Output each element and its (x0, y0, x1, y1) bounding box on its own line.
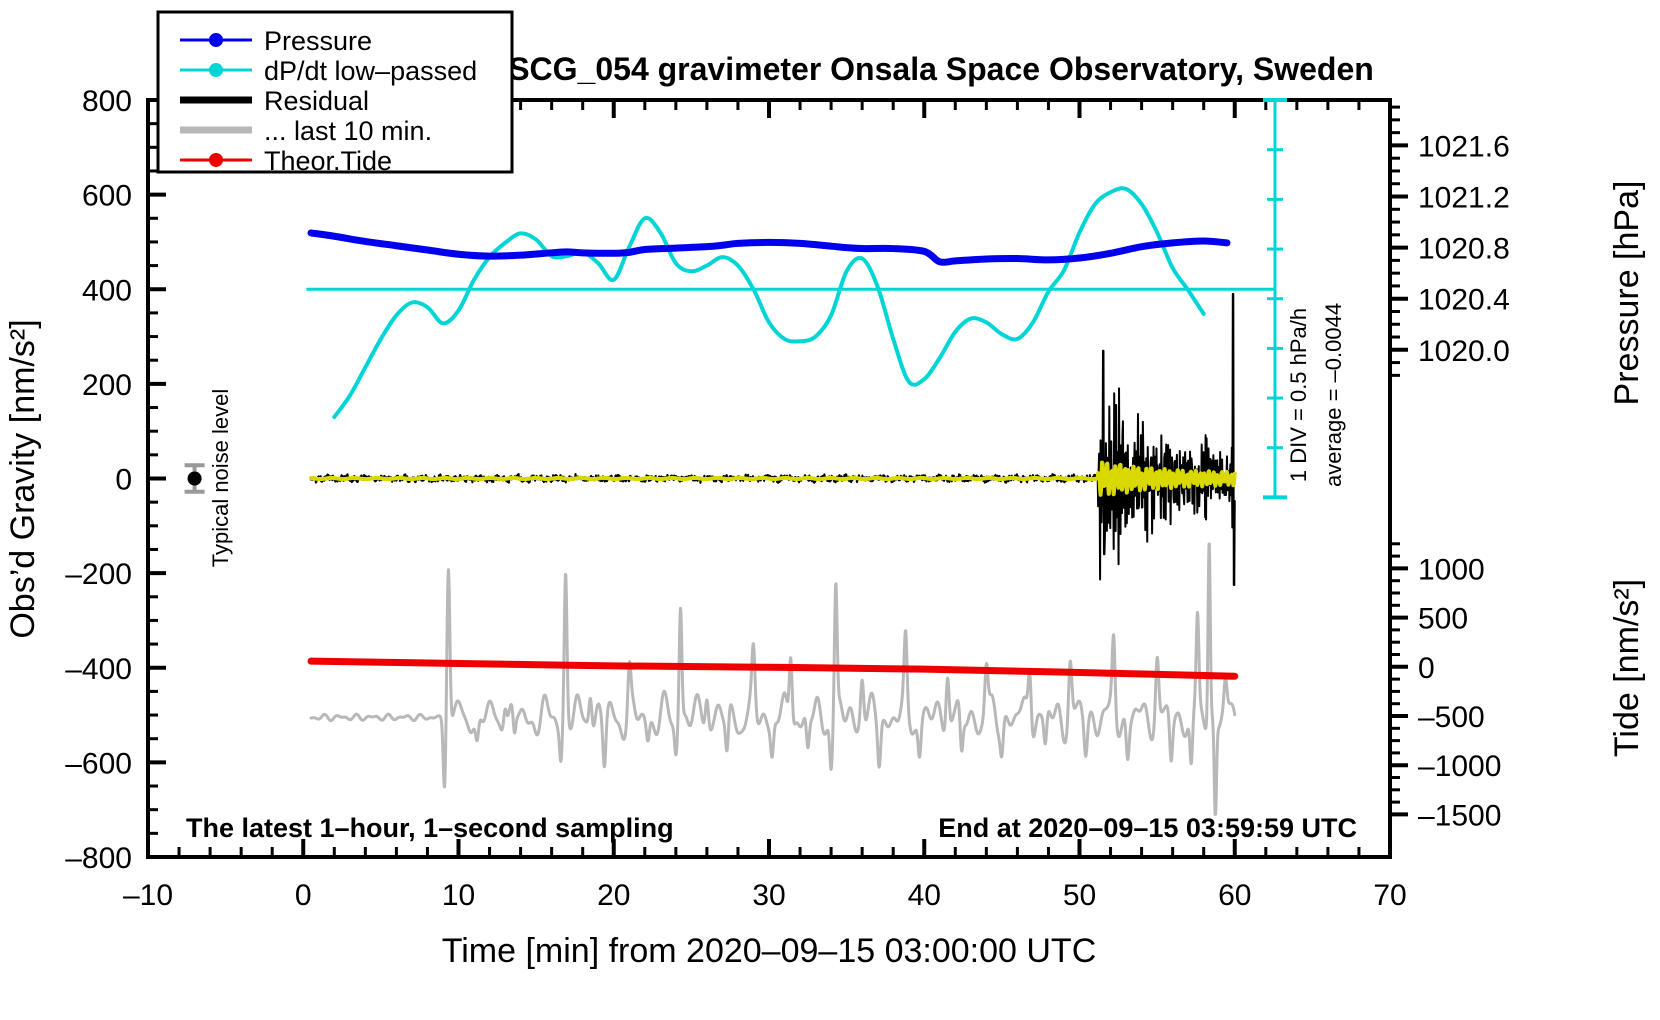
y-tick-label: –800 (65, 842, 132, 875)
typical-noise-level-label: Typical noise level (208, 389, 233, 568)
legend-label: Residual (264, 86, 369, 116)
gravimeter-chart: –10010203040506070 –800–600–400–20002004… (0, 0, 1660, 1020)
tide-tick-label: 500 (1418, 603, 1468, 636)
y-tick-label: 0 (115, 464, 132, 497)
tide-axis-title: Tide [nm/s²] (1608, 579, 1646, 757)
legend-label: Pressure (264, 26, 372, 56)
y-tick-label: 400 (82, 274, 132, 307)
plot-title: SCG_054 gravimeter Onsala Space Observat… (508, 51, 1374, 87)
x-tick-label: 10 (442, 879, 475, 912)
x-tick-label: 40 (908, 879, 941, 912)
pressure-tick-label: 1020.8 (1418, 233, 1510, 266)
pressure-tick-label: 1020.0 (1418, 335, 1510, 368)
x-tick-label: –10 (123, 879, 173, 912)
tide-tick-label: 1000 (1418, 553, 1485, 586)
legend: PressuredP/dt low–passedResidual... last… (158, 12, 512, 176)
legend-marker-dot (209, 153, 223, 167)
legend-label: dP/dt low–passed (264, 56, 477, 86)
x-tick-label: 0 (295, 879, 312, 912)
x-tick-label: 50 (1063, 879, 1096, 912)
legend-marker-dot (209, 33, 223, 47)
y-tick-label: 800 (82, 85, 132, 118)
x-tick-label: 30 (752, 879, 785, 912)
x-tick-label: 70 (1373, 879, 1406, 912)
y-tick-label: –200 (65, 558, 132, 591)
y-tick-label: 200 (82, 369, 132, 402)
pressure-tick-label: 1021.2 (1418, 182, 1510, 215)
pressure-axis-title: Pressure [hPa] (1608, 181, 1646, 406)
x-axis-title: Time [min] from 2020–09–15 03:00:00 UTC (442, 932, 1097, 970)
dpdt-scale-note: 1 DIV = 0.5 hPa/h (1286, 308, 1311, 482)
tide-tick-label: 0 (1418, 652, 1435, 685)
pressure-tick-label: 1020.4 (1418, 284, 1510, 317)
y-tick-label: –400 (65, 653, 132, 686)
y-tick-label: –600 (65, 747, 132, 780)
bottom-left-note: The latest 1–hour, 1–second sampling (186, 813, 674, 843)
legend-label: Theor.Tide (264, 146, 392, 176)
legend-marker-dot (209, 63, 223, 77)
pressure-tick-label: 1021.6 (1418, 130, 1510, 163)
tide-tick-label: –500 (1418, 701, 1485, 734)
legend-label: ... last 10 min. (264, 116, 432, 146)
bottom-right-note: End at 2020–09–15 03:59:59 UTC (938, 813, 1357, 843)
x-tick-label: 20 (597, 879, 630, 912)
y-tick-label: 600 (82, 180, 132, 213)
y-axis-title: Obs’d Gravity [nm/s²] (4, 319, 42, 638)
x-tick-label: 60 (1218, 879, 1251, 912)
tide-tick-label: –1000 (1418, 750, 1501, 783)
tide-tick-label: –1500 (1418, 799, 1501, 832)
dpdt-average-note: average = –0.0044 (1321, 303, 1346, 487)
